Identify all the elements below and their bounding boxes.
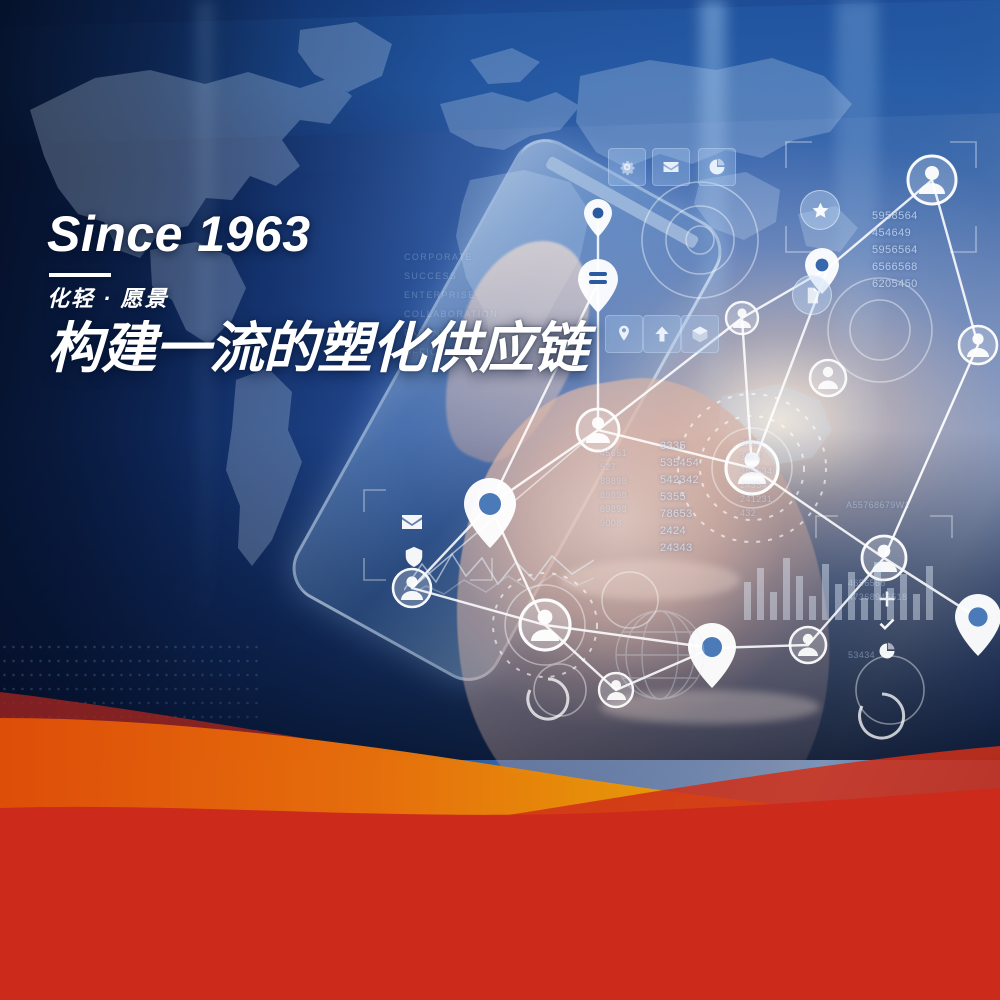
data-column-c: 3335 535454 542342 5355 78653 2424 24343 <box>660 438 699 557</box>
document-icon <box>792 275 832 315</box>
bottom-wave-graphic <box>0 670 1000 1000</box>
divider-rule <box>49 273 111 277</box>
data-column-b: 45651 527 89898 89898 89898 9008 <box>600 446 627 530</box>
pie-icon <box>874 638 900 664</box>
envelope-icon <box>398 508 426 536</box>
data-column-f: A55768679W1 <box>846 498 910 512</box>
data-column-a: 5958564 454649 5956564 6566568 6205450 <box>872 208 918 293</box>
mini-bar-chart <box>740 548 950 620</box>
arrow-up-icon <box>643 315 681 353</box>
chart-pie-icon <box>698 148 736 186</box>
gear-icon <box>608 148 646 186</box>
data-column-g: 53434 <box>848 648 875 662</box>
mail-icon <box>652 148 690 186</box>
subtitle-text: 化轻 · 愿景 <box>47 286 587 311</box>
data-column-d: 2865 3854 385534 24354 241231 432 <box>740 436 772 520</box>
banner-canvas: 5958564 454649 5956564 6566568 6205450 4… <box>0 0 1000 1000</box>
pin-tile-icon <box>605 315 643 353</box>
box-icon <box>681 315 719 353</box>
page-title: 构建一流的塑化供应链 <box>47 318 587 380</box>
star-icon <box>800 190 840 230</box>
eyebrow-text: Since 1963 <box>47 208 587 261</box>
wave-red-base <box>0 788 1000 1000</box>
headline-block: Since 1963 化轻 · 愿景 构建一流的塑化供应链 <box>47 208 587 379</box>
mini-line-chart <box>404 536 594 606</box>
